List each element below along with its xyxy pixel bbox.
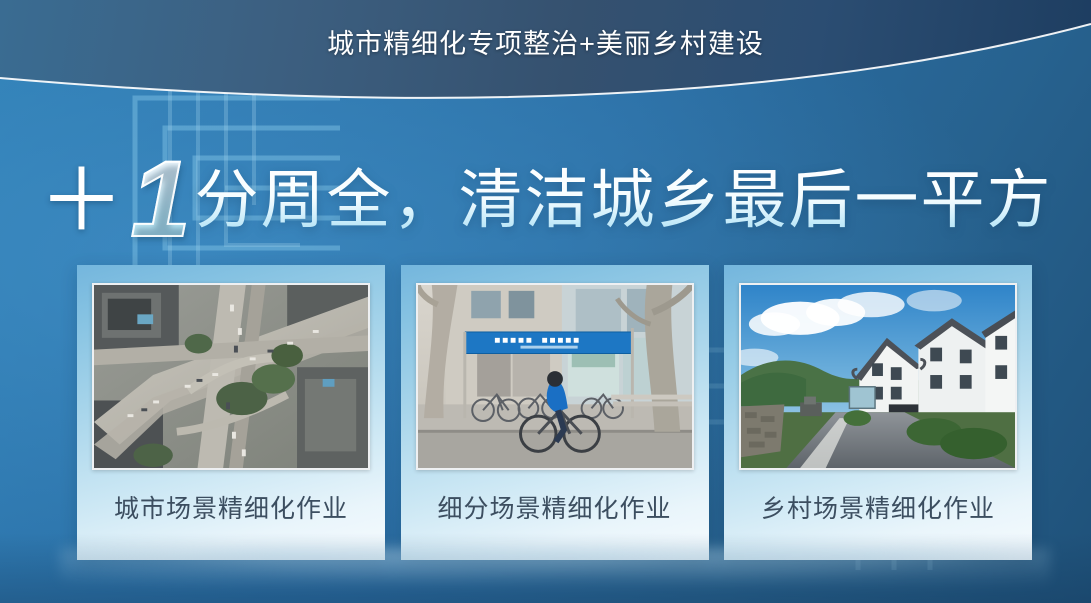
feature-card-urban[interactable]: 城市场景精细化作业 (77, 265, 385, 560)
feature-card-detail[interactable]: 细分场景精细化作业 (401, 265, 709, 560)
feature-card-rural[interactable]: 乡村场景精细化作业 (724, 265, 1032, 560)
card-caption: 城市场景精细化作业 (77, 493, 385, 525)
header-band (0, 0, 1091, 132)
card-caption: 乡村场景精细化作业 (724, 493, 1032, 525)
page-title: 城市精细化专项整治+美丽乡村建设 (0, 27, 1091, 61)
header-arc-divider-icon (0, 0, 1091, 132)
headline-plus-symbol: ＋ (38, 153, 124, 249)
slide: 城市精细化专项整治+美丽乡村建设 ＋1分周全，清洁城乡最后一平方 (0, 0, 1091, 603)
rural-village-white-houses-road-photo (739, 283, 1017, 470)
street-bicycle-parking-banner-photo (416, 283, 694, 470)
aerial-urban-highway-interchange-photo (92, 283, 370, 470)
headline-text: 分周全，清洁城乡最后一平方 (195, 164, 1053, 236)
headline-number-one: 1 (130, 138, 190, 259)
feature-card-row: 城市场景精细化作业 (77, 265, 1032, 560)
card-caption: 细分场景精细化作业 (401, 493, 709, 525)
headline: ＋1分周全，清洁城乡最后一平方 (0, 145, 1091, 253)
